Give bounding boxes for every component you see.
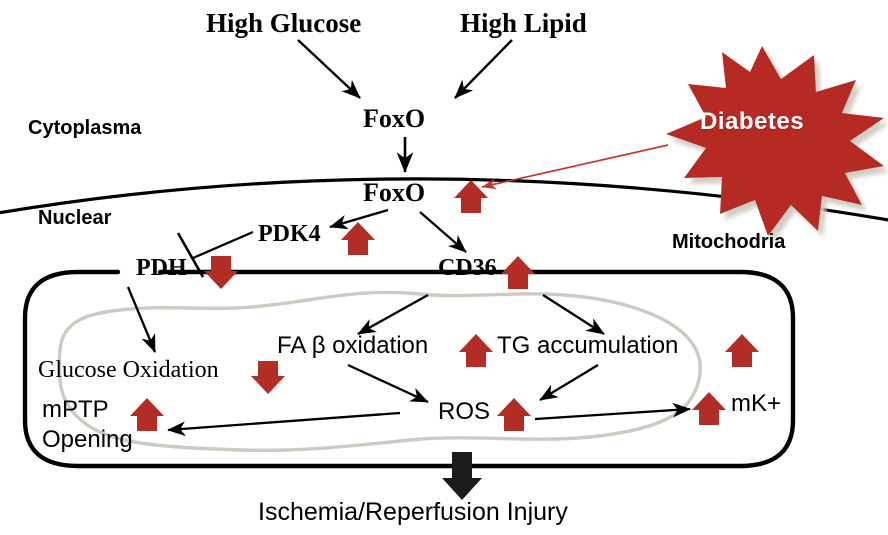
node-fa-beta-oxidation: FA β oxidation bbox=[277, 334, 428, 358]
node-glucose-oxidation: Glucose Oxidation bbox=[38, 358, 219, 382]
node-foxo-nuclear: FoxO bbox=[363, 180, 425, 206]
node-high-glucose: High Glucose bbox=[206, 10, 361, 37]
pathway-diagram: High Glucose High Lipid Cytoplasma Nucle… bbox=[0, 0, 888, 535]
node-pdk4: PDK4 bbox=[258, 222, 321, 246]
up-arrow-icon-mptp bbox=[130, 398, 164, 431]
node-high-lipid: High Lipid bbox=[460, 10, 587, 37]
node-foxo-cytoplasm: FoxO bbox=[363, 106, 425, 132]
node-mptp: mPTP bbox=[42, 398, 109, 422]
up-arrow-icon-cd36 bbox=[501, 256, 535, 289]
compartment-label-mitochondria: Mitochodria bbox=[672, 232, 785, 252]
node-cd36: CD36 bbox=[438, 256, 497, 280]
down-arrow-icon-glucose-oxidation bbox=[251, 361, 285, 394]
node-tg-accumulation: TG accumulation bbox=[497, 334, 678, 358]
outcome-label: Ischemia/Reperfusion Injury bbox=[258, 500, 568, 525]
down-arrow-icon-pdh bbox=[204, 256, 238, 289]
up-arrow-icon-foxo bbox=[454, 180, 488, 213]
up-arrow-icon-tg-accumulation bbox=[725, 334, 759, 367]
up-arrow-icon-pdk4 bbox=[341, 222, 375, 255]
node-mptp-opening: Opening bbox=[42, 428, 133, 452]
up-arrow-icon-ros bbox=[497, 398, 531, 431]
burst-label-diabetes: Diabetes bbox=[700, 108, 804, 136]
node-mk-plus: mK+ bbox=[731, 392, 781, 416]
compartment-label-cytoplasm: Cytoplasma bbox=[28, 118, 141, 138]
node-ros: ROS bbox=[438, 400, 490, 424]
up-arrow-icon-fa-oxidation bbox=[459, 334, 493, 367]
up-arrow-icon-mk bbox=[692, 392, 726, 425]
compartment-label-nuclear: Nuclear bbox=[38, 208, 111, 228]
node-pdh: PDH bbox=[136, 256, 187, 280]
